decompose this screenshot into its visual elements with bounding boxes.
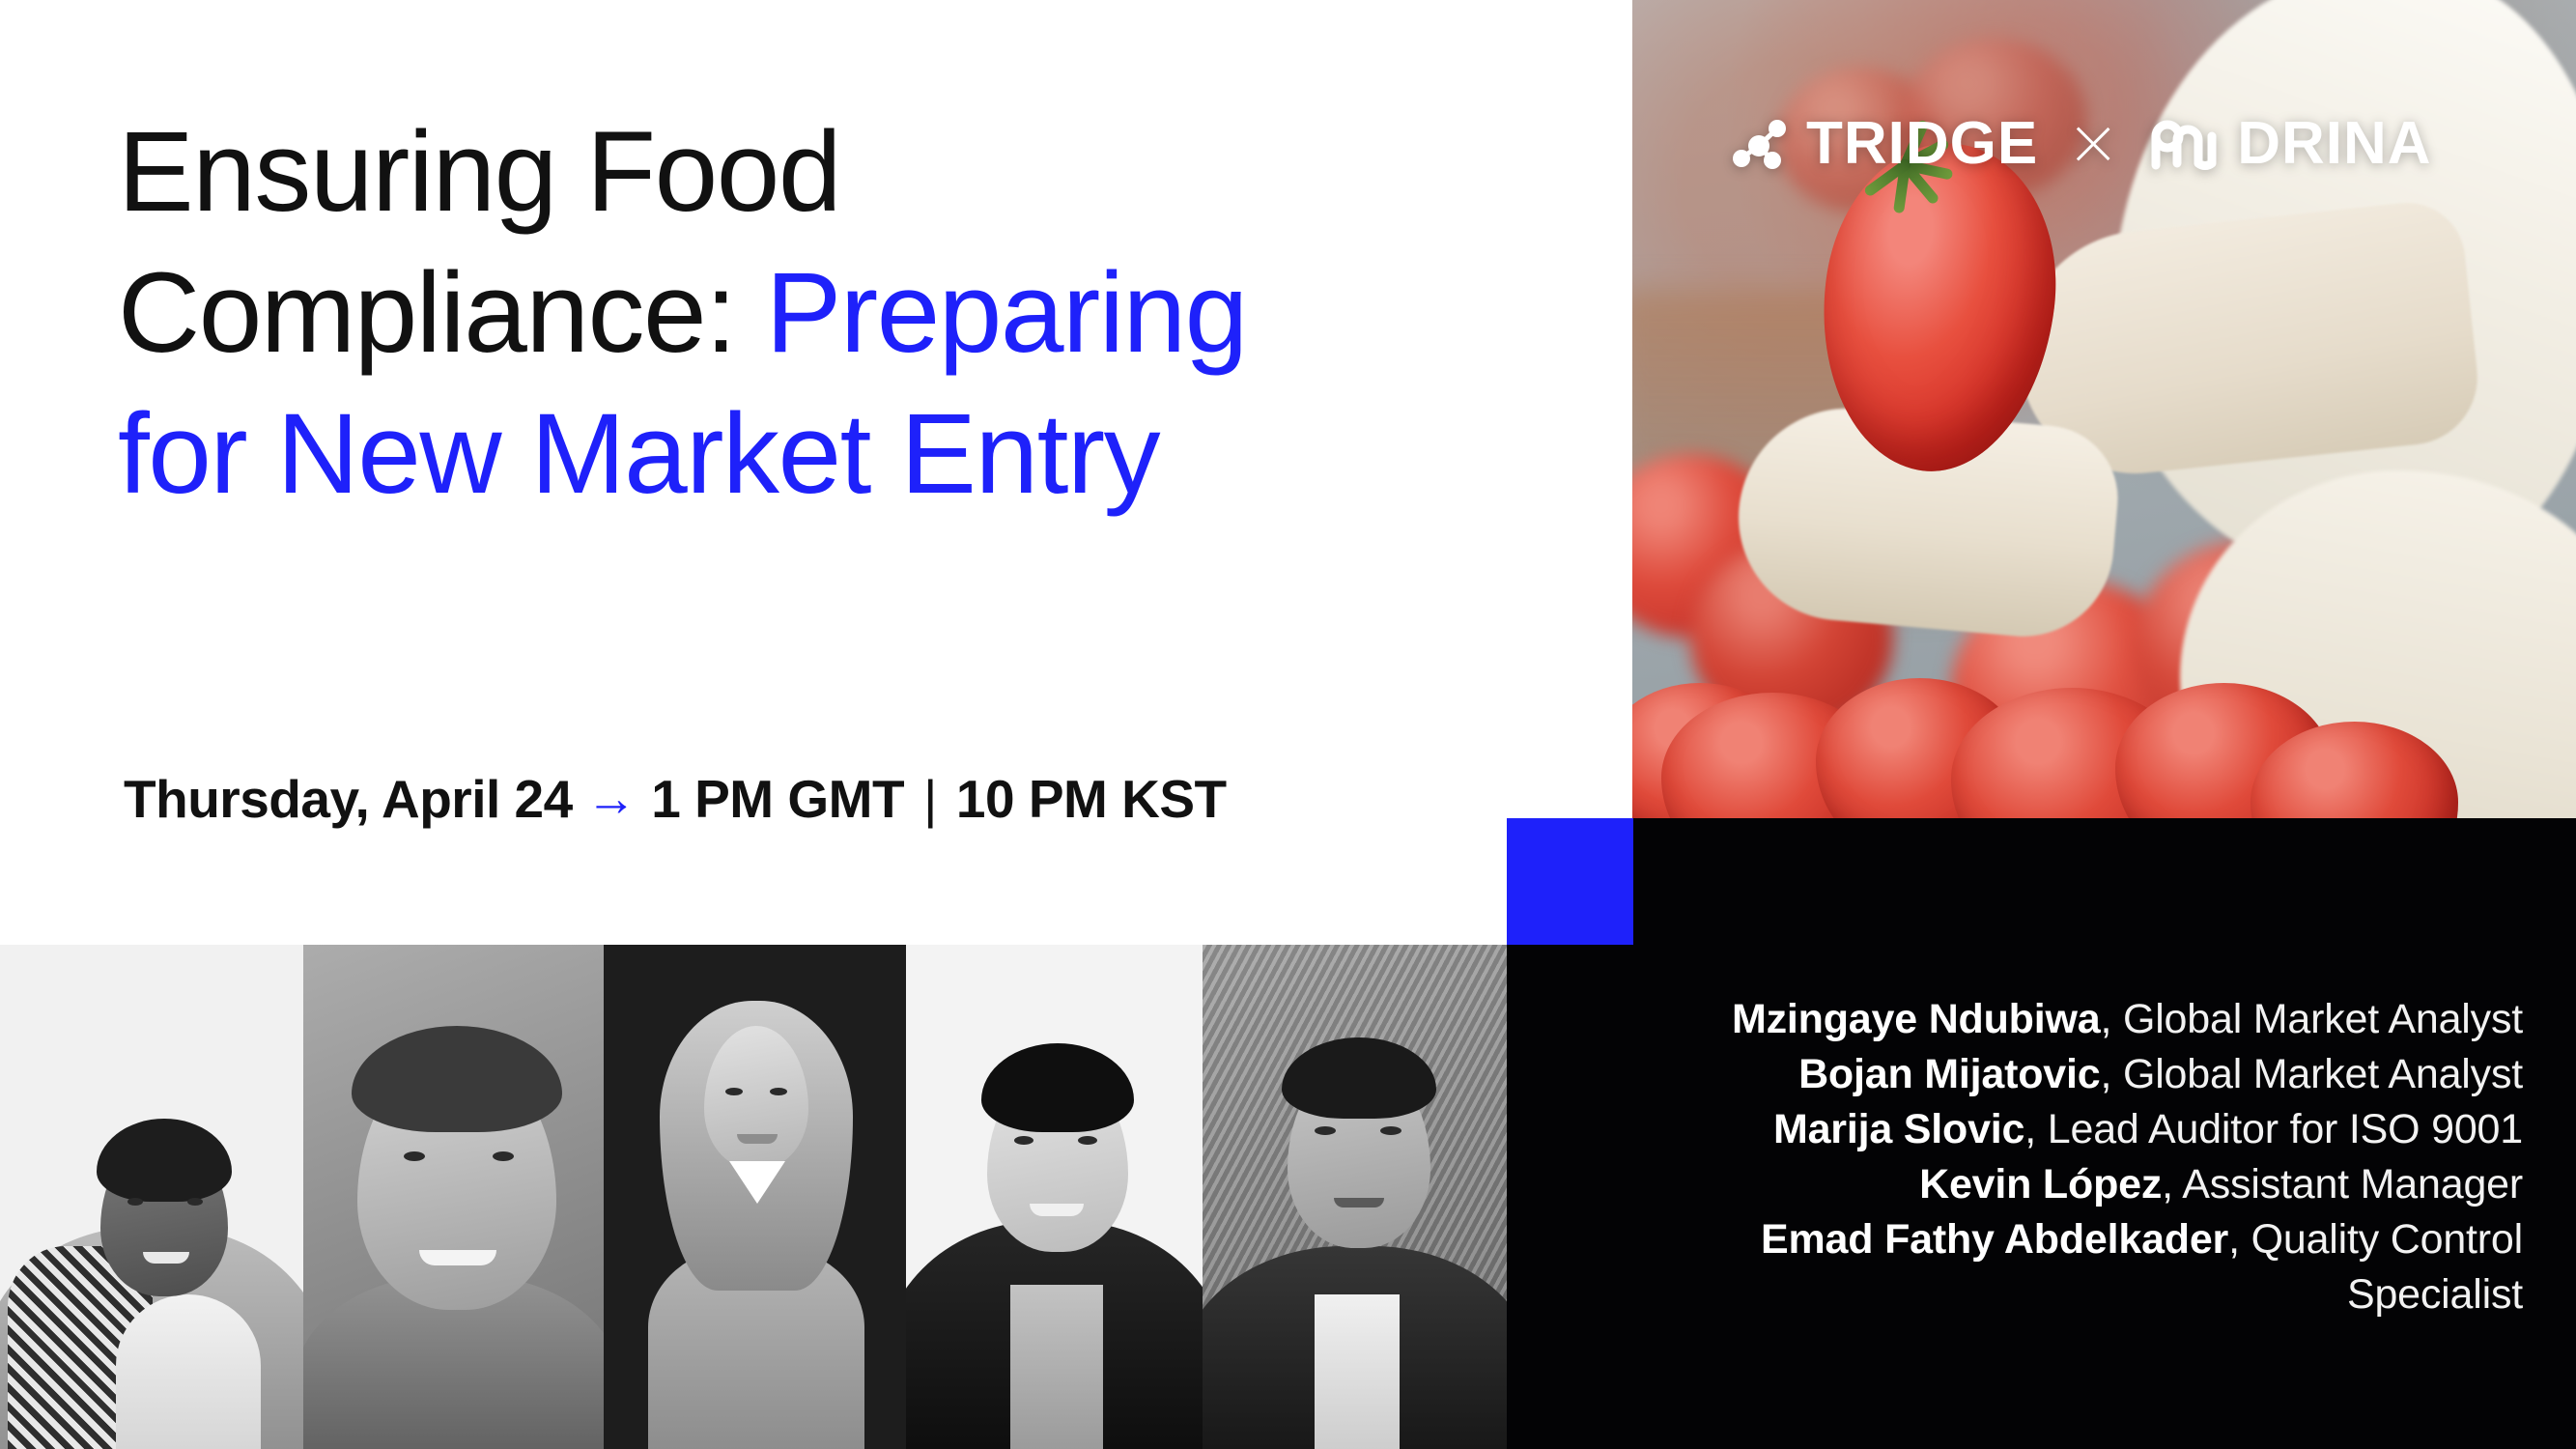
speaker-role: , Global Market Analyst — [2100, 1051, 2523, 1097]
speaker-entry: Bojan Mijatovic, Global Market Analyst — [1576, 1047, 2523, 1102]
speaker-entry: Mzingaye Ndubiwa, Global Market Analyst — [1576, 992, 2523, 1047]
title-line-2-accent: Preparing — [766, 249, 1247, 377]
speaker-role: , Quality Control Specialist — [2228, 1216, 2523, 1318]
logo-tridge-wordmark: TRIDGE — [1806, 114, 2038, 174]
hero-tomato-bed — [1632, 528, 2576, 818]
speaker-role: , Assistant Manager — [2162, 1161, 2523, 1207]
speaker-name: Mzingaye Ndubiwa — [1732, 996, 2100, 1042]
page-title: Ensuring Food Compliance: Preparing for … — [118, 101, 1489, 525]
event-time-gmt: 1 PM GMT — [651, 765, 904, 833]
headshot-speaker-2 — [303, 945, 604, 1449]
headshot-speaker-4 — [906, 945, 1203, 1449]
webinar-promo-banner: Ensuring Food Compliance: Preparing for … — [0, 0, 2576, 1449]
speakers-list: Mzingaye Ndubiwa, Global Market Analyst … — [1576, 992, 2523, 1322]
speaker-role: , Global Market Analyst — [2100, 996, 2523, 1042]
headshot-eye — [1380, 1126, 1401, 1135]
headshot-speaker-1 — [0, 945, 303, 1449]
headshot-speaker-3 — [604, 945, 906, 1449]
headshot-eye — [404, 1151, 425, 1161]
accent-square — [1507, 818, 1633, 945]
speakers-panel: Mzingaye Ndubiwa, Global Market Analyst … — [1507, 818, 2576, 1449]
time-divider: | — [923, 765, 937, 833]
speaker-entry: Marija Slovic, Lead Auditor for ISO 9001 — [1576, 1102, 2523, 1157]
arrow-right-icon: → — [586, 765, 637, 833]
headshot-eye — [770, 1088, 787, 1095]
headshot-hair — [97, 1119, 232, 1202]
headshot-mouth — [737, 1134, 778, 1144]
headshot-speaker-5 — [1203, 945, 1507, 1449]
title-line-2-dark: Compliance: — [118, 249, 735, 377]
headshot-mouth — [419, 1250, 496, 1265]
headshot-mouth — [1334, 1198, 1384, 1207]
event-date: Thursday, April 24 — [124, 765, 573, 833]
title-line-1: Ensuring Food — [118, 101, 1489, 242]
title-line-2: Compliance: Preparing — [118, 242, 1489, 384]
headshot-mouth — [1030, 1204, 1084, 1216]
speaker-name: Bojan Mijatovic — [1798, 1051, 2100, 1097]
logo-tridge: TRIDGE — [1729, 114, 2038, 174]
headshot-eye — [493, 1151, 514, 1161]
headshot-shirt — [1315, 1294, 1400, 1449]
speaker-photo-strip — [0, 945, 1507, 1449]
headshot-mouth — [143, 1252, 189, 1264]
headshot-eye — [127, 1198, 143, 1206]
logo-drina-wordmark: DRINA — [2237, 114, 2431, 174]
title-line-3: for New Market Entry — [118, 384, 1489, 525]
speaker-name: Emad Fathy Abdelkader — [1761, 1216, 2228, 1263]
network-node-icon — [1729, 117, 1789, 171]
speaker-name: Kevin López — [1919, 1161, 2162, 1207]
headshot-eye — [187, 1198, 203, 1206]
headshot-eye — [1315, 1126, 1336, 1135]
headshot-hair — [981, 1043, 1134, 1132]
headshot-hair — [352, 1026, 562, 1132]
speaker-name: Marija Slovic — [1773, 1106, 2024, 1152]
headshot-shirt — [116, 1294, 261, 1449]
headshot-eye — [1078, 1136, 1097, 1145]
event-datetime: Thursday, April 24 → 1 PM GMT | 10 PM KS… — [124, 765, 1227, 833]
speaker-entry: Kevin López, Assistant Manager — [1576, 1157, 2523, 1212]
logo-drina: DRINA — [2148, 114, 2431, 174]
speaker-entry: Emad Fathy Abdelkader, Quality Control S… — [1576, 1212, 2523, 1322]
rn-wave-icon — [2148, 117, 2220, 171]
headshot-shirt — [1010, 1285, 1103, 1449]
event-time-kst: 10 PM KST — [956, 765, 1227, 833]
logo-separator-x-icon — [2071, 122, 2115, 166]
headshot-eye — [1014, 1136, 1033, 1145]
left-content-panel: Ensuring Food Compliance: Preparing for … — [0, 0, 1507, 945]
speaker-role: , Lead Auditor for ISO 9001 — [2024, 1106, 2523, 1152]
logo-lockup: TRIDGE DRINA — [1729, 114, 2432, 174]
headshot-eye — [725, 1088, 743, 1095]
